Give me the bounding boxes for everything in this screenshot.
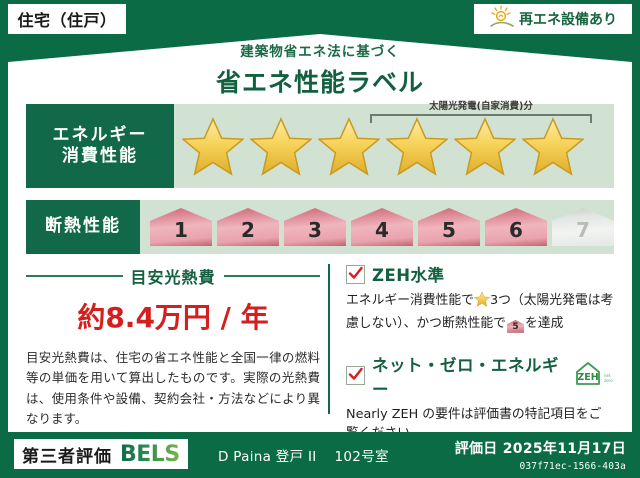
dwelling-type-label: 住宅（住戸） <box>17 7 116 31</box>
star-icon-4 <box>386 116 448 176</box>
zeh-house-logo: ZEH net zero <box>574 361 614 391</box>
svg-text:zero: zero <box>604 378 613 383</box>
insulation-badge-1: 1 <box>150 208 212 246</box>
insulation-level-badges: 1 2 3 4 5 6 7 <box>140 208 614 246</box>
evaluation-date: 評価日 2025年11月17日 <box>455 438 626 458</box>
label-title: 建築物省エネ法に基づく 省エネ性能ラベル <box>0 40 640 99</box>
insulation-badge-4: 4 <box>351 208 413 246</box>
net-zero-checkbox <box>346 366 365 385</box>
net-zero-energy-row: ネット・ゼロ・エネルギー ZEH net zero <box>346 352 614 400</box>
inline-insulation-badge: 5 <box>507 320 524 333</box>
insulation-badge-7: 7 <box>552 208 614 246</box>
insulation-label-text: 断熱性能 <box>45 216 121 237</box>
evaluation-meta: 評価日 2025年11月17日 037f71ec-1566-403a <box>455 438 626 472</box>
sun-renewable-icon <box>489 5 515 33</box>
details-columns: 目安光熱費 約8.4万円 / 年 目安光熱費は、住宅の省エネ性能と全国一律の燃料… <box>26 262 614 420</box>
star-icon-5 <box>454 116 516 176</box>
insulation-badge-5: 5 <box>418 208 480 246</box>
zeh-standard-row: ZEH水準 <box>346 262 614 286</box>
title-subtitle: 建築物省エネ法に基づく <box>0 40 640 60</box>
insulation-levels-area: 1 2 3 4 5 6 7 <box>140 200 614 254</box>
zeh-standard-title: ZEH水準 <box>372 262 445 286</box>
star-rating <box>174 116 584 176</box>
energy-label-card: 住宅（住戸） 再エネ設備あり 建築物省エネ法に基づく 省エネ性能ラベル <box>0 0 640 478</box>
energy-stars-area: 太陽光発電(自家消費)分 <box>174 104 614 188</box>
document-id: 037f71ec-1566-403a <box>455 461 626 472</box>
zeh-body-part-b: を達成 <box>525 316 563 331</box>
insulation-badge-2: 2 <box>217 208 279 246</box>
zeh-column: ZEH水準 エネルギー消費性能で3つ（太陽光発電は考慮しない）、かつ断熱性能で5… <box>330 262 614 420</box>
insulation-badge-1-value: 1 <box>174 218 188 242</box>
bels-logo-text: BELS <box>120 442 180 467</box>
net-zero-title: ネット・ゼロ・エネルギー <box>372 352 564 400</box>
title-main: 省エネ性能ラベル <box>0 63 640 99</box>
insulation-badge-7-value: 7 <box>576 218 590 242</box>
bels-badge: 第三者評価 BELS <box>14 439 188 469</box>
renewable-equipment-chip: 再エネ設備あり <box>474 4 632 34</box>
zeh-body-part-a: エネルギー消費性能で <box>346 293 474 308</box>
insulation-badge-3-value: 3 <box>308 218 322 242</box>
insulation-performance-row: 断熱性能 1 2 3 4 5 6 7 <box>26 200 614 254</box>
energy-performance-row: エネルギー 消費性能 太陽光発電(自家消費)分 <box>26 104 614 188</box>
utility-cost-heading: 目安光熱費 <box>26 264 320 288</box>
zeh-standard-checkbox <box>346 265 365 284</box>
insulation-badge-3: 3 <box>284 208 346 246</box>
solar-annotation: 太陽光発電(自家消費)分 <box>370 102 592 123</box>
room-number: 102号室 <box>335 449 389 465</box>
inline-star-icon <box>474 291 490 314</box>
energy-label-line2: 消費性能 <box>62 146 138 167</box>
star-icon-1 <box>182 116 244 176</box>
solar-caption: 太陽光発電(自家消費)分 <box>370 102 592 112</box>
star-icon-6 <box>522 116 584 176</box>
utility-cost-column: 目安光熱費 約8.4万円 / 年 目安光熱費は、住宅の省エネ性能と全国一律の燃料… <box>26 262 328 420</box>
check-icon <box>348 367 363 382</box>
svg-text:ZEH: ZEH <box>577 372 598 383</box>
building-info: D Paina 登戸 II102号室 <box>218 445 389 465</box>
third-party-eval-label: 第三者評価 <box>22 442 112 467</box>
insulation-badge-5-value: 5 <box>442 218 456 242</box>
insulation-badge-2-value: 2 <box>241 218 255 242</box>
renewable-equipment-label: 再エネ設備あり <box>519 9 617 29</box>
star-icon-2 <box>250 116 312 176</box>
heading-rule-right <box>224 275 321 277</box>
dwelling-type-chip: 住宅（住戸） <box>8 4 126 34</box>
insulation-badge-6-value: 6 <box>509 218 523 242</box>
insulation-badge-4-value: 4 <box>375 218 389 242</box>
energy-performance-label: エネルギー 消費性能 <box>26 104 174 188</box>
insulation-performance-label: 断熱性能 <box>26 200 140 254</box>
utility-cost-note: 目安光熱費は、住宅の省エネ性能と全国一律の燃料等の単価を用いて算出したものです。… <box>26 348 320 429</box>
footer-bar: 第三者評価 BELS D Paina 登戸 II102号室 評価日 2025年1… <box>0 432 640 478</box>
heading-rule-left <box>26 275 123 277</box>
check-icon <box>348 266 363 281</box>
energy-label-line1: エネルギー <box>53 125 148 146</box>
inline-badge-value: 5 <box>507 320 524 335</box>
solar-bracket <box>370 114 592 123</box>
star-icon-3 <box>318 116 380 176</box>
zeh-standard-body: エネルギー消費性能で3つ（太陽光発電は考慮しない）、かつ断熱性能で5を達成 <box>346 291 614 334</box>
utility-cost-heading-text: 目安光熱費 <box>131 264 216 288</box>
utility-cost-value: 約8.4万円 / 年 <box>26 296 320 336</box>
insulation-badge-6: 6 <box>485 208 547 246</box>
building-name: D Paina 登戸 II <box>218 449 317 465</box>
